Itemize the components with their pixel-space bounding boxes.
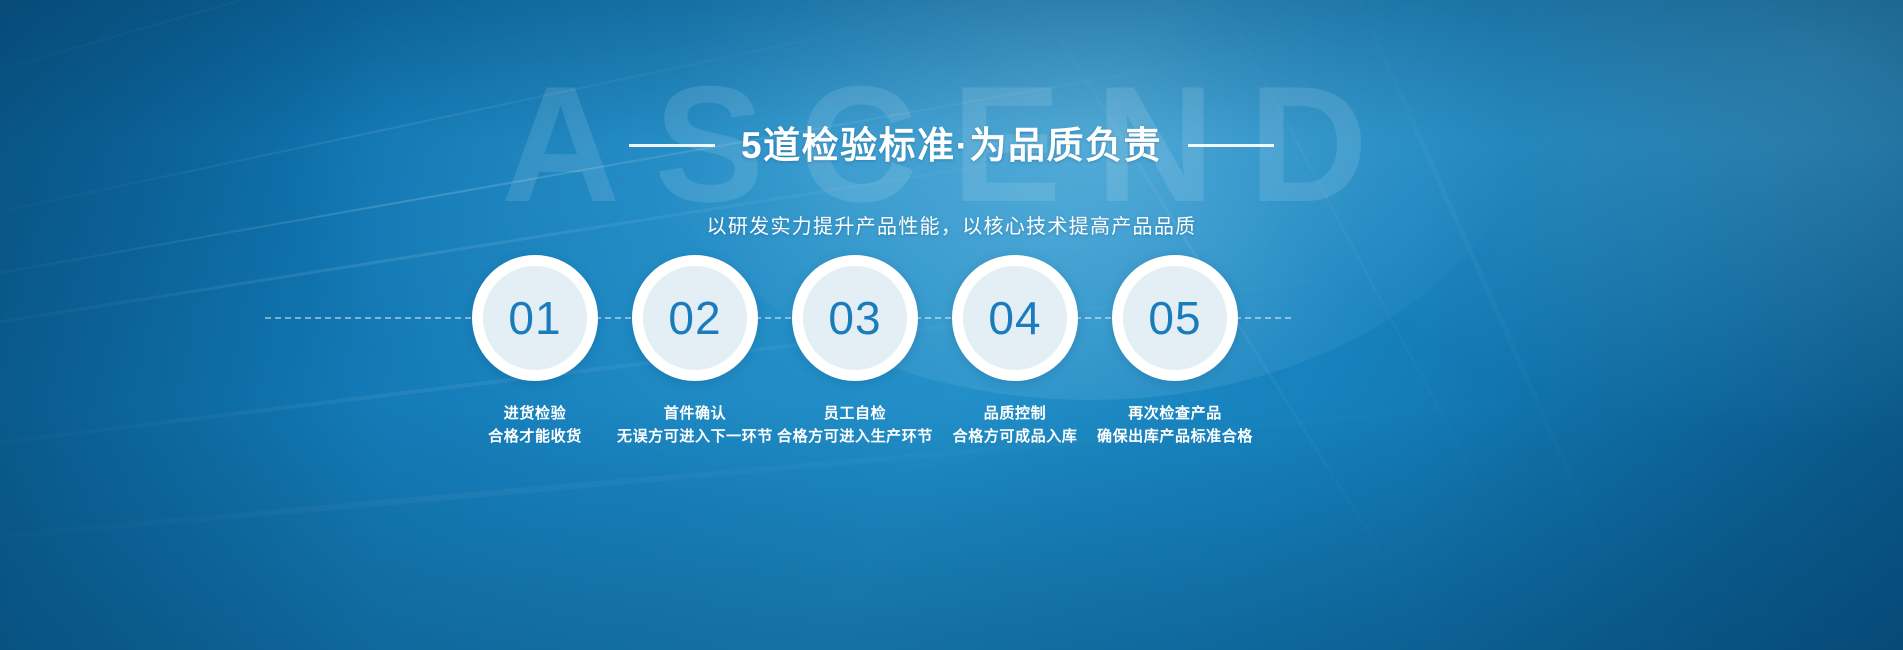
process-step-03[interactable]: 03 员工自检 合格方可进入生产环节 xyxy=(775,255,935,449)
title-row: 5道检验标准·为品质负责 xyxy=(0,100,1903,191)
banner-heading-block: 5道检验标准·为品质负责 以研发实力提升产品性能，以核心技术提高产品品质 xyxy=(0,100,1903,239)
step-circle-04[interactable]: 04 xyxy=(952,255,1078,381)
step-number-05: 05 xyxy=(1148,295,1201,341)
step-caption-title-03: 员工自检 xyxy=(777,402,933,425)
step-caption-title-04: 品质控制 xyxy=(953,402,1078,425)
process-steps-section: 01 进货检验 合格才能收货 02 首件确认 无误方可进入下一环节 03 xyxy=(0,255,1903,515)
page-title: 5道检验标准·为品质负责 xyxy=(741,125,1162,166)
steps-list: 01 进货检验 合格才能收货 02 首件确认 无误方可进入下一环节 03 xyxy=(455,255,1255,515)
step-circle-03[interactable]: 03 xyxy=(792,255,918,381)
page-subtitle: 以研发实力提升产品性能，以核心技术提高产品品质 xyxy=(0,210,1903,239)
title-dash-left-icon xyxy=(629,144,715,147)
step-number-01: 01 xyxy=(508,295,561,341)
process-step-01[interactable]: 01 进货检验 合格才能收货 xyxy=(455,255,615,449)
step-circle-05[interactable]: 05 xyxy=(1112,255,1238,381)
step-caption-desc-03: 合格方可进入生产环节 xyxy=(777,425,933,448)
step-number-04: 04 xyxy=(988,295,1041,341)
step-caption-desc-01: 合格才能收货 xyxy=(488,425,582,448)
step-circle-01[interactable]: 01 xyxy=(472,255,598,381)
step-caption-desc-05: 确保出库产品标准合格 xyxy=(1097,425,1253,448)
process-step-05[interactable]: 05 再次检查产品 确保出库产品标准合格 xyxy=(1095,255,1255,449)
step-circle-02[interactable]: 02 xyxy=(632,255,758,381)
step-caption-desc-02: 无误方可进入下一环节 xyxy=(617,425,773,448)
quality-process-banner: ASCEND 5道检验标准·为品质负责 以研发实力提升产品性能，以核心技术提高产… xyxy=(0,0,1903,650)
title-dash-right-icon xyxy=(1188,144,1274,147)
step-caption-01: 进货检验 合格才能收货 xyxy=(488,402,582,449)
step-number-02: 02 xyxy=(668,295,721,341)
step-caption-title-05: 再次检查产品 xyxy=(1097,402,1253,425)
step-caption-desc-04: 合格方可成品入库 xyxy=(953,425,1078,448)
step-caption-03: 员工自检 合格方可进入生产环节 xyxy=(777,402,933,449)
step-caption-04: 品质控制 合格方可成品入库 xyxy=(953,402,1078,449)
step-caption-02: 首件确认 无误方可进入下一环节 xyxy=(617,402,773,449)
step-caption-title-01: 进货检验 xyxy=(488,402,582,425)
step-caption-05: 再次检查产品 确保出库产品标准合格 xyxy=(1097,402,1253,449)
process-step-04[interactable]: 04 品质控制 合格方可成品入库 xyxy=(935,255,1095,449)
process-step-02[interactable]: 02 首件确认 无误方可进入下一环节 xyxy=(615,255,775,449)
step-number-03: 03 xyxy=(828,295,881,341)
step-caption-title-02: 首件确认 xyxy=(617,402,773,425)
